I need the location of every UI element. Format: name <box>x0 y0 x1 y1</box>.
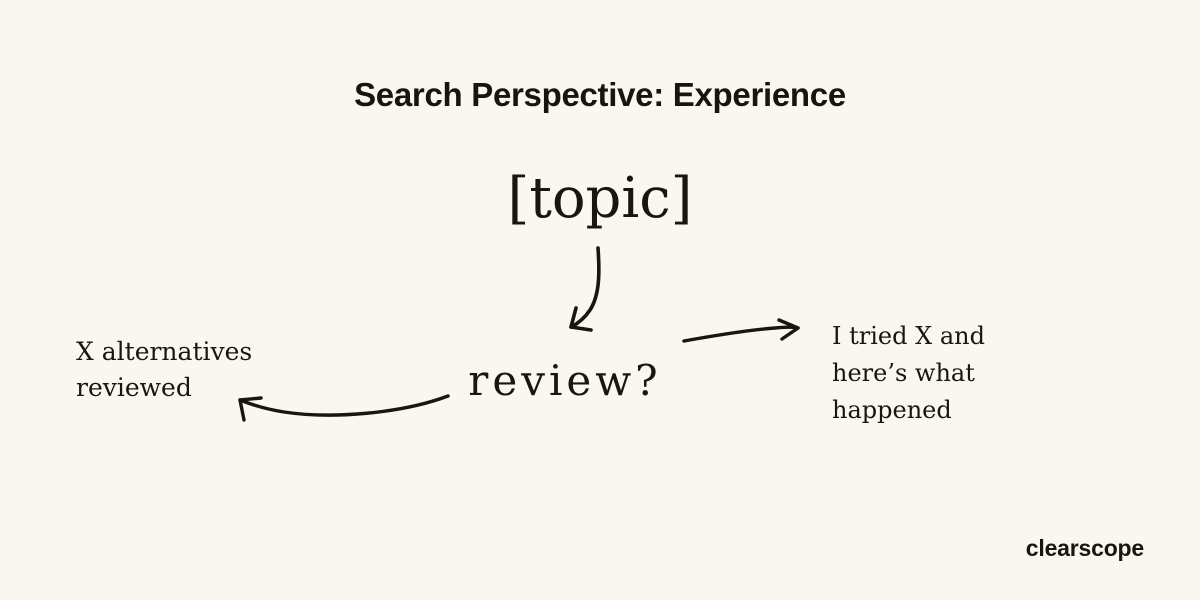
left-branch-label-line-2: reviewed <box>76 370 376 406</box>
topic-to-review-arrow <box>571 248 599 330</box>
right-branch-label-line-2: here’s what <box>832 355 1132 392</box>
page-title: Search Perspective: Experience <box>0 76 1200 114</box>
topic-node: [topic] <box>0 168 1200 230</box>
review-to-right-arrow <box>684 320 798 341</box>
slide-canvas: Search Perspective: Experience [topic] r… <box>0 0 1200 600</box>
right-branch-label-line-3: happened <box>832 392 1132 429</box>
clearscope-logo: clearscope <box>1026 535 1144 562</box>
review-node: review? <box>440 358 690 404</box>
right-branch-label-line-1: I tried X and <box>832 318 1132 355</box>
left-branch-label: X alternatives reviewed <box>76 334 376 406</box>
right-branch-label: I tried X and here’s what happened <box>832 318 1132 429</box>
left-branch-label-line-1: X alternatives <box>76 334 376 370</box>
